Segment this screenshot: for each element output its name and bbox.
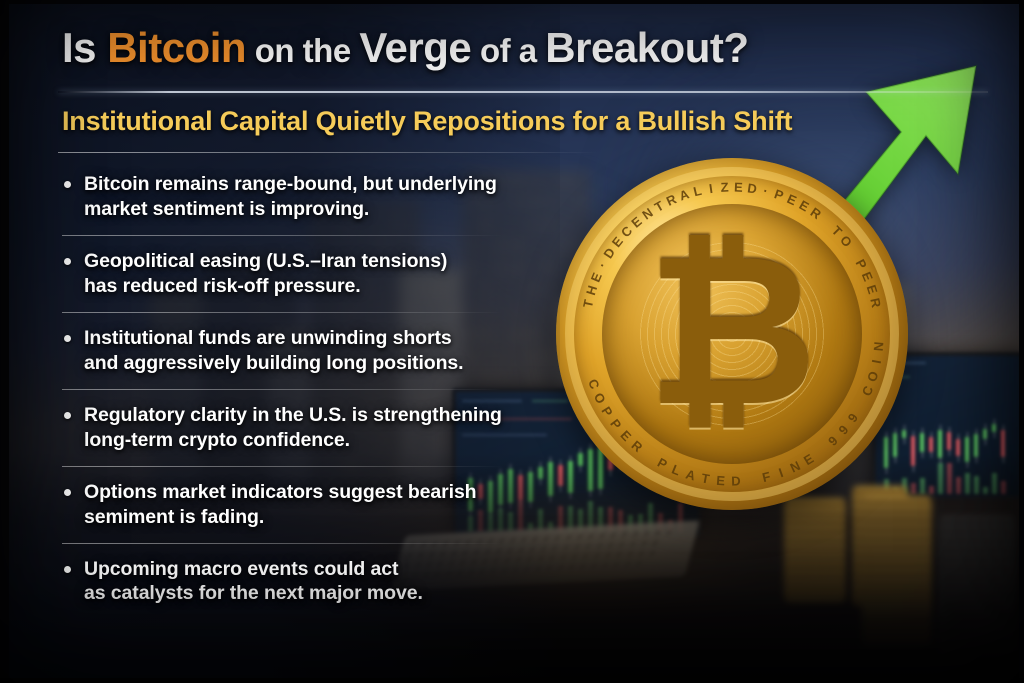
title-part-5: Breakout? [545, 24, 748, 71]
title-divider [58, 91, 988, 93]
list-divider [62, 543, 502, 544]
list-item: Upcoming macro events could actas cataly… [58, 557, 528, 607]
frame-right [1019, 0, 1024, 683]
frame-top [0, 0, 1024, 4]
list-divider [62, 235, 502, 236]
page-subtitle: Institutional Capital Quietly Reposition… [62, 106, 792, 137]
bullet-dot-icon [64, 566, 71, 573]
bullet-dot-icon [64, 412, 71, 419]
list-divider [62, 312, 502, 313]
list-item: Bitcoin remains range-bound, but underly… [58, 172, 528, 222]
list-item-text: Geopolitical easing (U.S.–Iran tensions)… [84, 249, 528, 299]
list-item: Institutional funds are unwinding shorts… [58, 326, 528, 376]
list-item-text: Upcoming macro events could actas cataly… [84, 557, 528, 607]
bullet-dot-icon [64, 258, 71, 265]
title-part-1: Bitcoin [107, 24, 246, 71]
frame-left [0, 0, 9, 683]
bullet-dot-icon [64, 181, 71, 188]
title-part-3: Verge [359, 24, 471, 71]
bullet-dot-icon [64, 489, 71, 496]
title-part-2: on the [246, 32, 359, 69]
bullet-dot-icon [64, 335, 71, 342]
title-part-4: of a [471, 32, 545, 69]
list-item-text: Options market indicators suggest bearis… [84, 480, 528, 530]
list-item: Regulatory clarity in the U.S. is streng… [58, 403, 528, 453]
list-item-text: Bitcoin remains range-bound, but underly… [84, 172, 528, 222]
content-layer: Is Bitcoin on the Verge of a Breakout? I… [0, 0, 1024, 683]
list-item-text: Regulatory clarity in the U.S. is streng… [84, 403, 528, 453]
infographic-poster: THE·DECENTRALIZED·PEER TO PEERCOPPER PLA… [0, 0, 1024, 683]
frame-bottom [0, 678, 1024, 683]
list-divider [62, 466, 502, 467]
list-divider [62, 389, 502, 390]
subtitle-divider [58, 152, 598, 153]
bullet-list: Bitcoin remains range-bound, but underly… [58, 172, 528, 606]
title-part-0: Is [62, 24, 107, 71]
list-item: Geopolitical easing (U.S.–Iran tensions)… [58, 249, 528, 299]
list-item-text: Institutional funds are unwinding shorts… [84, 326, 528, 376]
page-title: Is Bitcoin on the Verge of a Breakout? [62, 26, 792, 71]
list-item: Options market indicators suggest bearis… [58, 480, 528, 530]
